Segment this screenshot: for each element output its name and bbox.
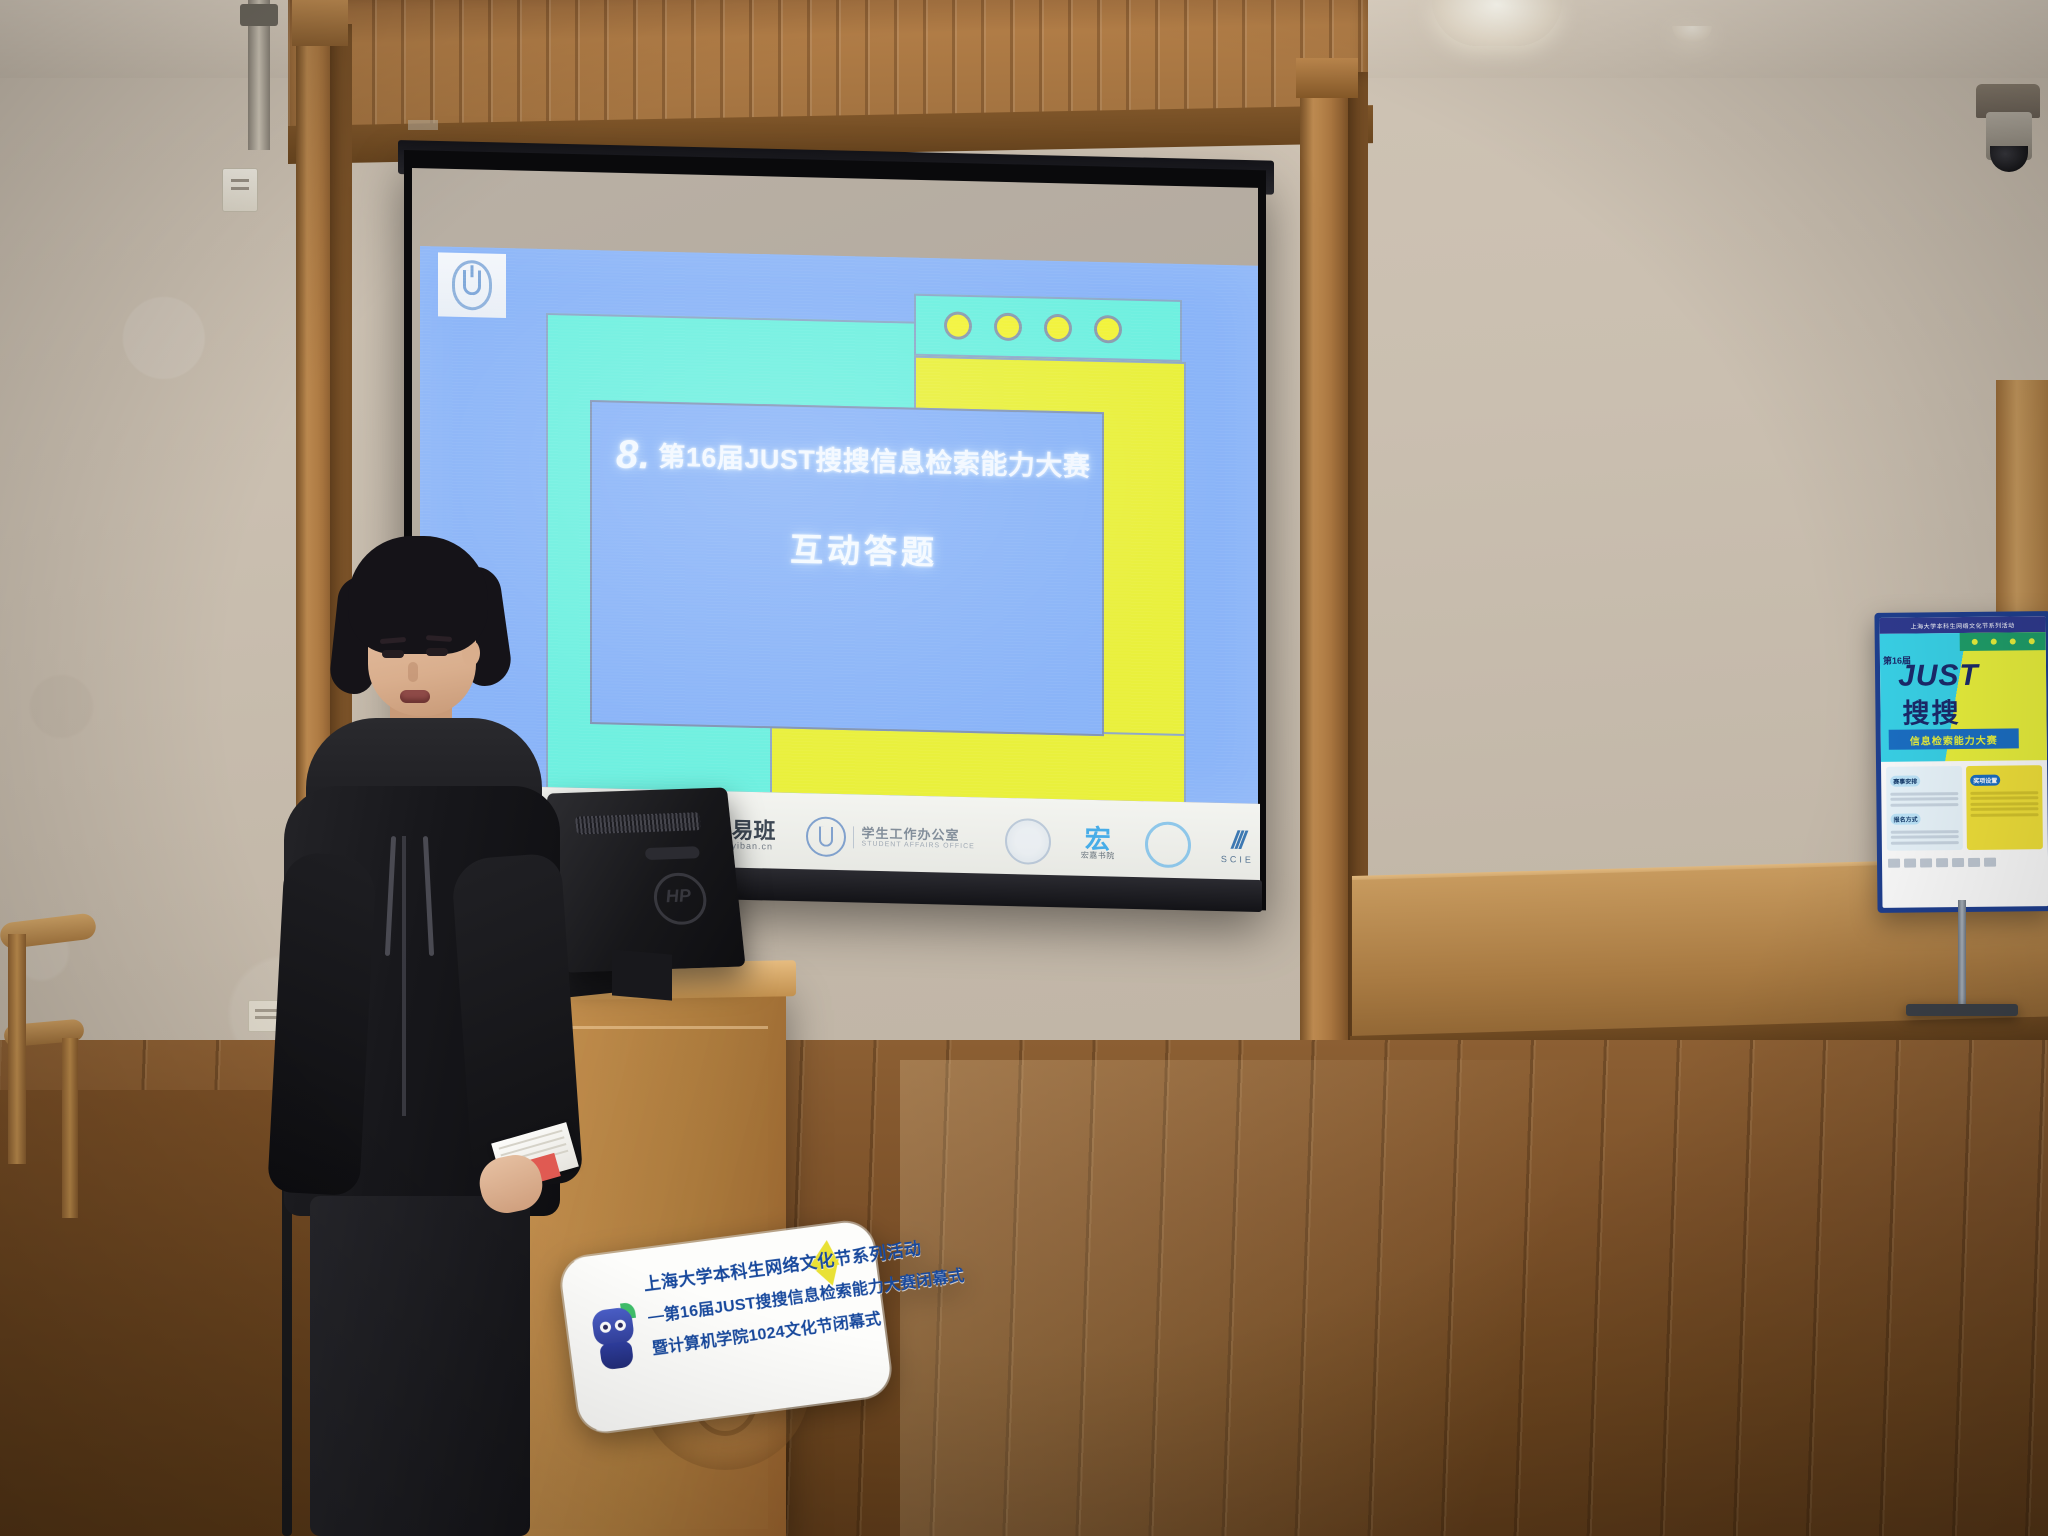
slide-decor-yellow-strip (770, 724, 1186, 804)
sponsor-shu (1005, 818, 1051, 865)
poster-sponsor-row (1882, 854, 2048, 871)
window-dot-icon (1094, 315, 1122, 344)
slide-subtitle: 互动答题 (790, 523, 938, 574)
arm-left (267, 852, 377, 1196)
poster-tagline: 信息检索能力大赛 (1910, 731, 1998, 747)
hoodie-zipper (402, 836, 406, 1116)
poster-signup-title: 报名方式 (1891, 813, 1921, 824)
poster-brand-en: JUST (1898, 659, 1979, 694)
poster-header-text: 上海大学本科生网络文化节系列活动 (1911, 620, 2015, 630)
slide-number: 8. (616, 433, 650, 478)
chair-post-front (8, 934, 26, 1164)
pilaster-cap-right (1296, 58, 1358, 98)
sponsor-scie: /// SCIE (1221, 827, 1254, 865)
poster-tagline-badge: 信息检索能力大赛 (1889, 728, 2019, 749)
event-poster[interactable]: 上海大学本科生网络文化节系列活动 第16届 JUST 搜搜 信息检索能力大赛 赛… (1874, 611, 2048, 913)
poster-schedule-title: 赛事安排 (1890, 775, 1920, 786)
poster-prizes-title: 奖项设置 (1970, 775, 2000, 786)
student-affairs-seal-icon (806, 816, 846, 857)
monitor-vent (575, 812, 701, 834)
eye-right (426, 648, 448, 656)
presenter (276, 536, 576, 1536)
window-dot-icon (944, 311, 972, 340)
student-affairs-name-en: STUDENT AFFAIRS OFFICE (862, 841, 975, 851)
lecture-hall-scene: 8.第16届JUST搜搜信息检索能力大赛 互动答题 PICC 易班 yiban.… (0, 0, 2048, 1536)
hair-top (348, 536, 488, 654)
hongjia-name: 宏嘉书院 (1081, 852, 1115, 861)
sponsor-blue-seal (1145, 821, 1191, 868)
trousers (310, 1196, 530, 1536)
blue-circular-seal-icon (1145, 821, 1191, 868)
hongjia-college-logo-icon: 宏 (1085, 826, 1111, 853)
slide-decor-titlebar (914, 294, 1182, 362)
wooden-chair (0, 918, 96, 1218)
shu-university-seal-icon (1005, 818, 1051, 865)
poster-hero: 第16届 JUST 搜搜 信息检索能力大赛 (1880, 632, 2047, 762)
window-dot-icon (1044, 314, 1072, 343)
hp-monitor-icon[interactable] (546, 787, 745, 972)
power-outlet-icon[interactable] (222, 168, 258, 212)
podium-event-sign: 上海大学本科生网络文化节系列活动 —第16届JUST搜搜信息检索能力大赛闭幕式 … (567, 1227, 886, 1427)
mouth (400, 690, 430, 703)
poster-prizes-section: 奖项设置 (1966, 765, 2043, 850)
hp-brand-logo-icon (651, 872, 709, 926)
poster-brand-cn: 搜搜 (1902, 691, 1960, 731)
sponsor-hongjia: 宏 宏嘉书院 (1081, 826, 1115, 861)
slide-title-text: 第16届JUST搜搜信息检索能力大赛 (658, 442, 1090, 482)
shu-university-emblem-icon (438, 252, 506, 318)
scie-name: SCIE (1221, 855, 1254, 866)
scie-logo-icon: /// (1231, 828, 1243, 856)
poster-schedule-section: 赛事安排 报名方式 (1886, 766, 1963, 851)
poster-hero-bar (1959, 632, 2046, 651)
yiban-url: yiban.cn (732, 841, 776, 851)
poster-stand-base (1906, 1004, 2018, 1016)
window-dot-icon (994, 313, 1022, 342)
poster-header: 上海大学本科生网络文化节系列活动 (1879, 616, 2045, 634)
wood-pilaster-right (1300, 60, 1352, 1120)
wall-pipe-cap (240, 4, 278, 26)
yiban-name: 易班 (732, 819, 776, 842)
sponsor-student-affairs: 学生工作办公室 STUDENT AFFAIRS OFFICE (806, 816, 975, 860)
chair-post-back (62, 1038, 78, 1218)
monitor-stand (612, 949, 672, 1000)
floor-reflection (900, 1060, 2048, 1536)
eye-left (382, 650, 404, 658)
monitor-hinge (645, 846, 700, 860)
wall-marking (408, 120, 438, 130)
pilaster-cap-left (292, 0, 348, 46)
just-sousou-mascot-icon (586, 1302, 642, 1374)
poster-stand-pole (1958, 900, 1966, 1010)
nose (408, 662, 418, 682)
